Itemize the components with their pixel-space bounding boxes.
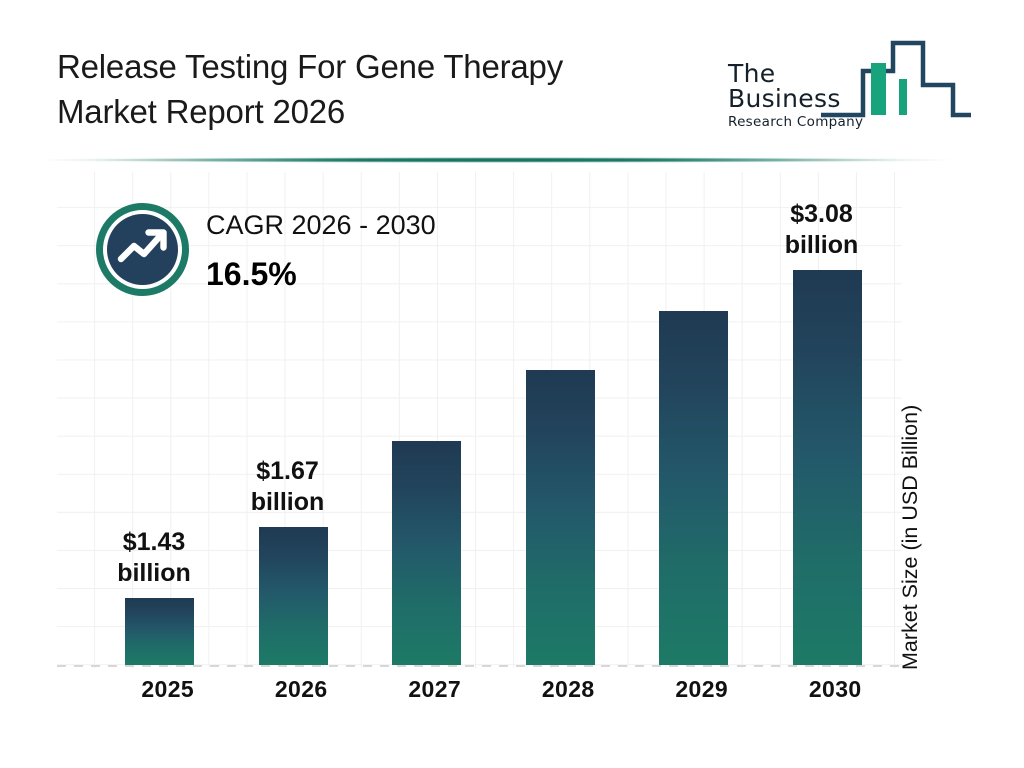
cagr-badge: CAGR 2026 - 2030 16.5% xyxy=(96,203,516,308)
header: Release Testing For Gene Therapy Market … xyxy=(0,0,1024,162)
y-axis-label: Market Size (in USD Billion) xyxy=(898,270,923,670)
bar-2029[interactable] xyxy=(659,311,728,665)
bar-slot xyxy=(647,172,781,665)
bar-2030[interactable] xyxy=(793,270,862,665)
bar-2027[interactable] xyxy=(392,441,461,665)
page-title-line-1: Release Testing For Gene Therapy xyxy=(57,45,697,90)
x-tick-2025: 2025 xyxy=(101,676,235,703)
bar-2025[interactable] xyxy=(125,598,194,665)
bar-value-label-2026: $1.67 billion xyxy=(233,456,343,517)
logo-bar-chart-icon xyxy=(819,33,973,133)
x-tick-2028: 2028 xyxy=(502,676,636,703)
cagr-period-label: CAGR 2026 - 2030 xyxy=(206,212,436,239)
chart-baseline xyxy=(57,665,904,667)
cagr-value-label: 16.5% xyxy=(206,258,436,290)
bar-2028[interactable] xyxy=(526,370,595,665)
x-tick-2029: 2029 xyxy=(635,676,769,703)
header-divider xyxy=(32,157,960,163)
bar-value-label-2030: $3.08 billion xyxy=(767,199,877,260)
bar-slot xyxy=(514,172,648,665)
x-axis-ticks: 202520262027202820292030 xyxy=(57,669,902,715)
slide-canvas: Release Testing For Gene Therapy Market … xyxy=(0,0,1024,768)
page-title: Release Testing For Gene Therapy Market … xyxy=(57,45,697,134)
page-title-line-2: Market Report 2026 xyxy=(57,90,697,135)
trend-up-arrow-icon xyxy=(96,203,189,296)
cagr-text-block: CAGR 2026 - 2030 16.5% xyxy=(206,212,436,290)
bar-value-label-2025: $1.43 billion xyxy=(99,527,209,588)
bar-2026[interactable] xyxy=(259,527,328,665)
x-tick-2026: 2026 xyxy=(235,676,369,703)
bar-slot: $3.08 billion xyxy=(781,172,915,665)
x-tick-2027: 2027 xyxy=(368,676,502,703)
company-logo: The Business Research Company xyxy=(715,33,973,133)
x-tick-2030: 2030 xyxy=(769,676,903,703)
